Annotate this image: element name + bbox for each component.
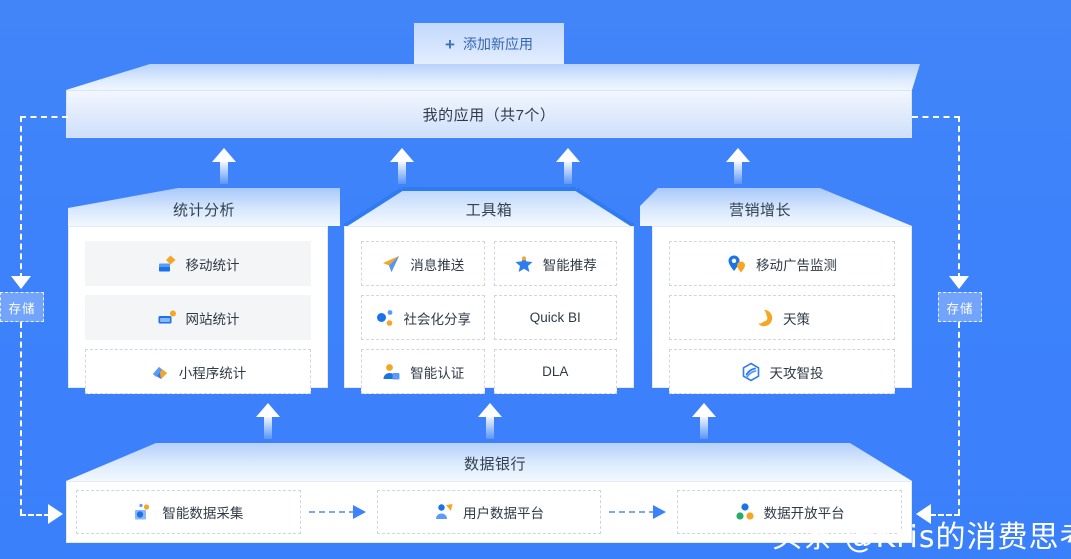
right-path-top — [912, 116, 960, 118]
column-title-growth: 营销增长 — [640, 199, 880, 220]
app-tile-label: 移动统计 — [186, 254, 240, 274]
left-path-bottom — [20, 514, 50, 516]
column-title-toolbox: 工具箱 — [344, 199, 634, 220]
app-tile-smart-recommend[interactable]: 智能推荐 — [494, 241, 618, 286]
app-tile-tiance[interactable]: 天策 — [669, 295, 895, 340]
social-share-icon — [375, 308, 395, 328]
app-tile-label: 智能推荐 — [543, 254, 597, 274]
my-apps-title: 我的应用（共7个） — [423, 104, 556, 125]
flow-arrow-up — [478, 403, 502, 439]
storage-chip-right: 存储 — [938, 292, 982, 322]
ad-tracking-icon — [727, 254, 747, 274]
app-tile-label: 社会化分享 — [404, 308, 472, 328]
right-path-arrowhead-down — [949, 276, 969, 289]
left-path-arrowhead-right — [48, 504, 63, 524]
bank-tile-user-data-platform[interactable]: 用户数据平台 — [377, 490, 602, 534]
app-tile-label: 天攻智投 — [770, 362, 824, 382]
storage-label-left: 存储 — [8, 298, 35, 317]
user-data-platform-icon — [434, 502, 454, 522]
column-body-toolbox: 消息推送 智能推荐 社会化分享 Quick BI — [344, 226, 634, 388]
data-collect-icon — [133, 502, 153, 522]
flow-arrow-right — [301, 502, 377, 522]
app-tile-mobile-analytics[interactable]: 移动统计 — [85, 241, 311, 286]
flow-arrow-right — [601, 502, 677, 522]
storage-chip-left: 存储 — [0, 292, 44, 322]
app-tile-website-analytics[interactable]: 网站统计 — [85, 295, 311, 340]
app-tile-miniprogram-analytics[interactable]: 小程序统计 — [85, 349, 311, 394]
smart-recommend-icon — [514, 254, 534, 274]
app-tile-label: Quick BI — [530, 310, 581, 325]
right-path-down2 — [958, 322, 960, 515]
app-tile-label: DLA — [542, 364, 568, 379]
storage-label-right: 存储 — [946, 298, 973, 317]
column-body-stats: 移动统计 网站统计 小程序统计 — [68, 226, 328, 388]
push-message-icon — [381, 254, 401, 274]
app-tile-label: 移动广告监测 — [756, 254, 837, 274]
app-tile-label: 智能认证 — [410, 362, 464, 382]
open-data-platform-icon — [735, 502, 755, 522]
mobile-analytics-icon — [157, 254, 177, 274]
flow-arrow-up — [212, 148, 236, 184]
app-tile-quick-bi[interactable]: Quick BI — [494, 295, 618, 340]
left-path-down2 — [20, 322, 22, 515]
column-title-stats: 统计分析 — [68, 199, 340, 220]
column-body-growth: 移动广告监测 天策 天攻智投 — [652, 226, 912, 388]
app-tile-dla[interactable]: DLA — [494, 349, 618, 394]
app-tile-push-message[interactable]: 消息推送 — [361, 241, 485, 286]
bank-title: 数据银行 — [60, 453, 930, 474]
smart-auth-icon — [381, 362, 401, 382]
flow-arrow-up — [390, 148, 414, 184]
flow-arrow-up — [692, 403, 716, 439]
flow-arrow-up — [726, 148, 750, 184]
right-path-down — [958, 116, 960, 279]
website-analytics-icon — [157, 308, 177, 328]
watermark: 头条 @Kris的消费思考 — [772, 512, 1071, 556]
app-tile-social-share[interactable]: 社会化分享 — [361, 295, 485, 340]
app-tile-smart-auth[interactable]: 智能认证 — [361, 349, 485, 394]
left-path-down — [20, 116, 22, 279]
app-tile-label: 网站统计 — [186, 308, 240, 328]
app-tile-ad-tracking[interactable]: 移动广告监测 — [669, 241, 895, 286]
flow-arrow-up — [556, 148, 580, 184]
app-tile-tiangong[interactable]: 天攻智投 — [669, 349, 895, 394]
app-tile-label: 天策 — [783, 308, 810, 328]
app-tile-label: 消息推送 — [410, 254, 464, 274]
left-path-top — [20, 116, 68, 118]
app-tile-label: 小程序统计 — [179, 362, 247, 382]
bank-tile-label: 智能数据采集 — [162, 502, 243, 522]
tiangong-icon — [741, 362, 761, 382]
left-path-arrowhead-down — [11, 276, 31, 289]
bank-tile-label: 用户数据平台 — [463, 502, 544, 522]
bank-tile-data-collect[interactable]: 智能数据采集 — [76, 490, 301, 534]
diagram-canvas: + 添加新应用 我的应用（共7个） — [0, 0, 1071, 559]
tiance-icon — [754, 308, 774, 328]
flow-arrow-up — [256, 403, 280, 439]
my-apps-bar[interactable]: 我的应用（共7个） — [66, 90, 912, 138]
miniprogram-analytics-icon — [150, 362, 170, 382]
